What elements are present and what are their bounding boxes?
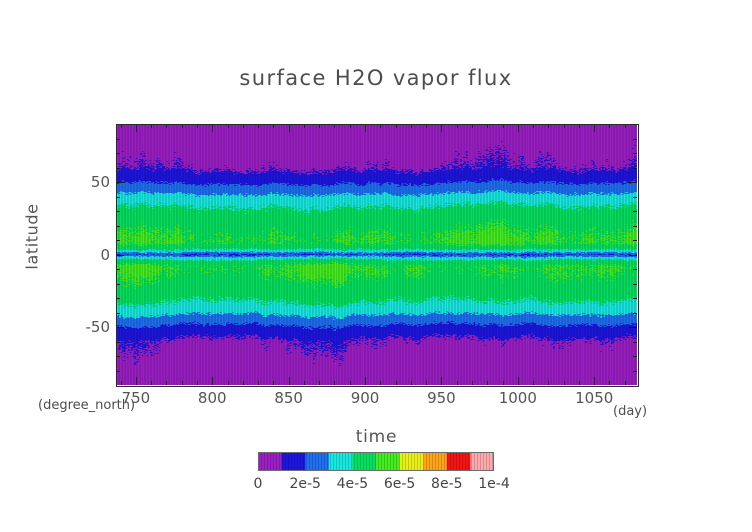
colorbar (258, 452, 494, 471)
y-tick-label: 0 (64, 246, 110, 264)
y-tick-label: -50 (64, 318, 110, 336)
x-axis-ticks: 75080085090095010001050 (116, 389, 637, 411)
y-axis-unit: (degree_north) (38, 398, 135, 413)
x-axis-unit: (day) (613, 404, 647, 419)
x-tick-label: 900 (330, 389, 400, 407)
x-axis-title: time (116, 427, 637, 447)
y-axis-ticks: 500-50 (60, 124, 110, 385)
hovmoller-figure: surface H2O vapor flux 500-50 7508008509… (0, 0, 752, 532)
colorbar-labels: 02e-54e-56e-58e-51e-4 (258, 476, 494, 496)
x-tick-label: 800 (177, 389, 247, 407)
page-title: surface H2O vapor flux (0, 66, 752, 90)
colorbar-canvas (258, 452, 494, 471)
colorbar-tick-label: 1e-4 (462, 476, 526, 492)
y-axis-title: latitude (23, 177, 42, 297)
x-tick-label: 1000 (483, 389, 553, 407)
x-tick-label: 850 (254, 389, 324, 407)
x-tick-label: 950 (406, 389, 476, 407)
y-tick-label: 50 (64, 173, 110, 191)
contour-plot-canvas (116, 124, 637, 385)
